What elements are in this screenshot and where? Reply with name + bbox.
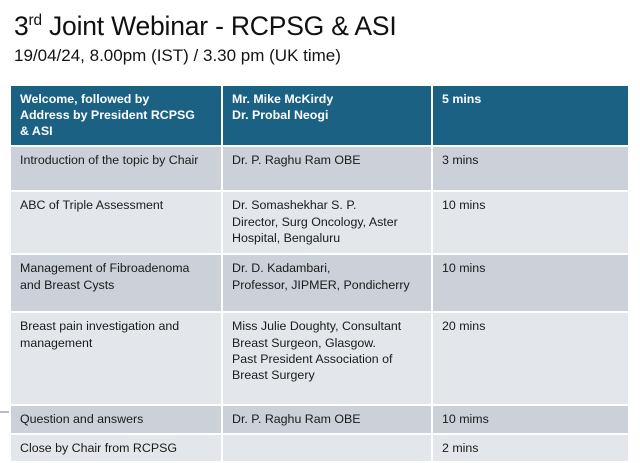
cell-speaker: Dr. D. Kadambari, Professor, JIPMER, Pon… <box>222 254 432 312</box>
table-row: Management of Fibroadenoma and Breast Cy… <box>11 254 628 312</box>
cell-duration: 3 mins <box>432 146 628 191</box>
page-title: 3rd Joint Webinar - RCPSG & ASI <box>14 12 626 42</box>
speaker-line: Dr. Somashekhar S. P. <box>232 197 424 213</box>
table-header-row: Welcome, followed by Address by Presiden… <box>11 86 628 146</box>
header-duration: 5 mins <box>442 91 621 107</box>
speaker-line: Director, Surg Oncology, Aster <box>232 214 424 230</box>
table-row: Question and answers Dr. P. Raghu Ram OB… <box>11 405 628 433</box>
speaker-line: Dr. D. Kadambari, <box>232 260 424 276</box>
duration-line: 10 mins <box>442 197 621 213</box>
cell-speaker: Dr. P. Raghu Ram OBE <box>222 146 432 191</box>
agenda-table: Welcome, followed by Address by Presiden… <box>11 86 628 463</box>
table-row: Breast pain investigation and management… <box>11 312 628 405</box>
page-subtitle: 19/04/24, 8.00pm (IST) / 3.30 pm (UK tim… <box>14 46 626 66</box>
title-ordinal-suffix: rd <box>29 12 42 29</box>
speaker-line: Past President Association of <box>232 351 424 367</box>
speaker-line: Professor, JIPMER, Pondicherry <box>232 277 424 293</box>
header-cell-duration: 5 mins <box>432 86 628 146</box>
cell-topic: Introduction of the topic by Chair <box>11 146 222 191</box>
speaker-line: Miss Julie Doughty, Consultant <box>232 318 424 334</box>
duration-line: 2 mins <box>442 440 621 456</box>
table-body: Introduction of the topic by Chair Dr. P… <box>11 146 628 461</box>
cell-topic: Close by Chair from RCPSG <box>11 434 222 462</box>
topic-line: Close by Chair from RCPSG <box>20 440 214 456</box>
topic-line: and Breast Cysts <box>20 277 214 293</box>
cell-speaker <box>222 434 432 462</box>
speaker-line: Breast Surgery <box>232 367 424 383</box>
duration-line: 10 mins <box>442 260 621 276</box>
table-header: Welcome, followed by Address by Presiden… <box>11 86 628 146</box>
topic-line: Introduction of the topic by Chair <box>20 152 214 168</box>
header-cell-speaker: Mr. Mike McKirdy Dr. Probal Neogi <box>222 86 432 146</box>
header-speaker-line-1: Mr. Mike McKirdy <box>232 91 424 107</box>
speaker-line: Dr. P. Raghu Ram OBE <box>232 152 424 168</box>
cell-duration: 20 mins <box>432 312 628 405</box>
title-number: 3 <box>14 11 29 41</box>
cell-duration: 2 mins <box>432 434 628 462</box>
topic-line: Question and answers <box>20 411 214 427</box>
topic-line: ABC of Triple Assessment <box>20 197 214 213</box>
cell-duration: 10 mims <box>432 405 628 433</box>
cell-topic: Management of Fibroadenoma and Breast Cy… <box>11 254 222 312</box>
topic-line: Breast pain investigation and <box>20 318 214 334</box>
duration-line: 20 mins <box>442 318 621 334</box>
cell-duration: 10 mins <box>432 191 628 254</box>
table-row: Introduction of the topic by Chair Dr. P… <box>11 146 628 191</box>
edge-artifact-mark <box>0 411 9 413</box>
table-row: Close by Chair from RCPSG 2 mins <box>11 434 628 462</box>
speaker-line: Hospital, Bengaluru <box>232 230 424 246</box>
presentation-slide: 3rd Joint Webinar - RCPSG & ASI 19/04/24… <box>0 0 640 427</box>
cell-speaker: Miss Julie Doughty, Consultant Breast Su… <box>222 312 432 405</box>
speaker-line: Breast Surgeon, Glasgow. <box>232 335 424 351</box>
header-topic-line-3: & ASI <box>20 123 214 139</box>
header-cell-topic: Welcome, followed by Address by Presiden… <box>11 86 222 146</box>
cell-speaker: Dr. P. Raghu Ram OBE <box>222 405 432 433</box>
topic-line: Management of Fibroadenoma <box>20 260 214 276</box>
duration-line: 10 mims <box>442 411 621 427</box>
header-topic-line-2: Address by President RCPSG <box>20 107 214 123</box>
header-topic-line-1: Welcome, followed by <box>20 91 214 107</box>
cell-topic: ABC of Triple Assessment <box>11 191 222 254</box>
cell-speaker: Dr. Somashekhar S. P. Director, Surg Onc… <box>222 191 432 254</box>
speaker-line: Dr. P. Raghu Ram OBE <box>232 411 424 427</box>
table-row: ABC of Triple Assessment Dr. Somashekhar… <box>11 191 628 254</box>
cell-topic: Breast pain investigation and management <box>11 312 222 405</box>
title-block: 3rd Joint Webinar - RCPSG & ASI 19/04/24… <box>14 12 626 65</box>
header-speaker-line-2: Dr. Probal Neogi <box>232 107 424 123</box>
cell-topic: Question and answers <box>11 405 222 433</box>
title-rest: Joint Webinar - RCPSG & ASI <box>42 11 397 41</box>
duration-line: 3 mins <box>442 152 621 168</box>
topic-line: management <box>20 335 214 351</box>
cell-duration: 10 mins <box>432 254 628 312</box>
